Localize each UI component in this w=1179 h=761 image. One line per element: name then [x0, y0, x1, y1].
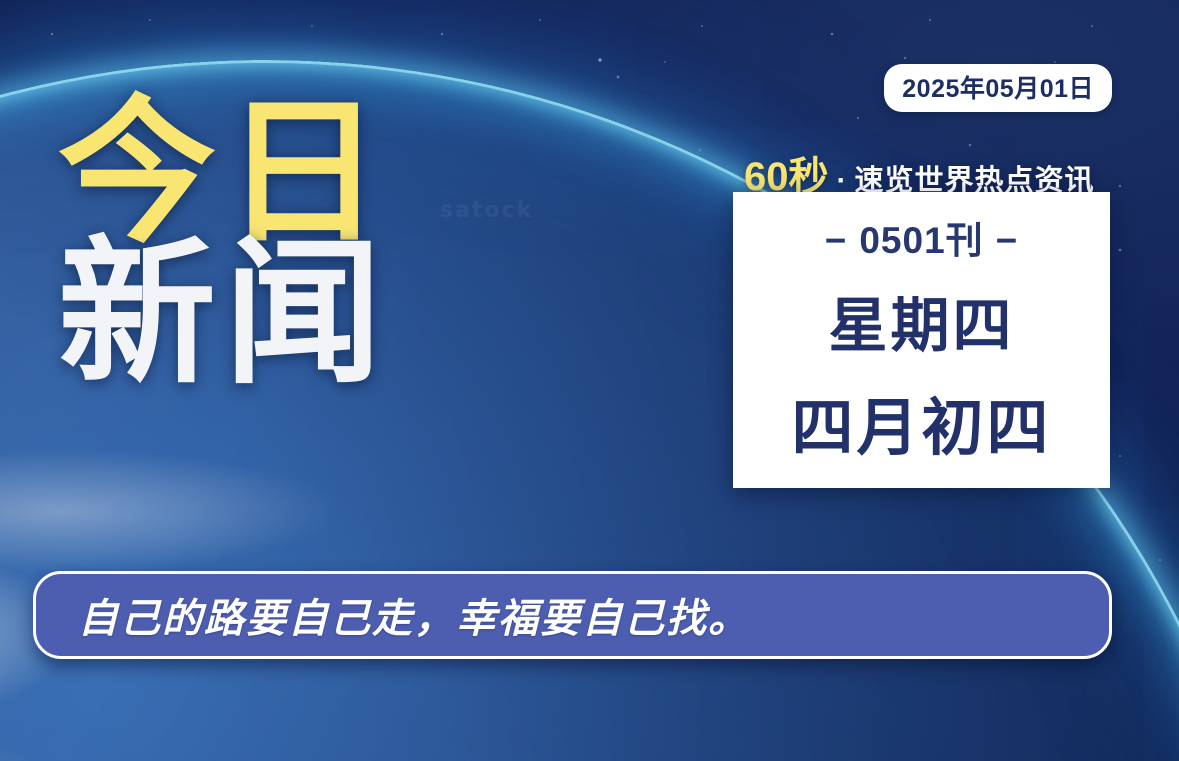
masthead: 今日 新闻	[58, 96, 390, 392]
masthead-line-news: 新闻	[58, 237, 390, 392]
issue-number: 0501刊	[859, 220, 983, 261]
issue-row: −0501刊−	[813, 210, 1031, 264]
news-poster: satock 今日 新闻 2025年05月01日 60秒 · 速览世界热点资讯 …	[0, 0, 1179, 761]
quote-text: 自己的路要自己走，幸福要自己找。	[36, 586, 750, 644]
info-card: −0501刊− 星期四 四月初四	[733, 192, 1110, 488]
weekday-label: 星期四	[828, 278, 1014, 363]
quote-banner: 自己的路要自己走，幸福要自己找。	[33, 571, 1112, 659]
date-badge: 2025年05月01日	[884, 64, 1112, 112]
issue-right-rule: −	[984, 220, 1031, 261]
lunar-date-label: 四月初四	[791, 377, 1051, 467]
issue-left-rule: −	[813, 220, 860, 261]
poster-content: 今日 新闻 2025年05月01日 60秒 · 速览世界热点资讯 −0501刊−…	[0, 0, 1179, 761]
